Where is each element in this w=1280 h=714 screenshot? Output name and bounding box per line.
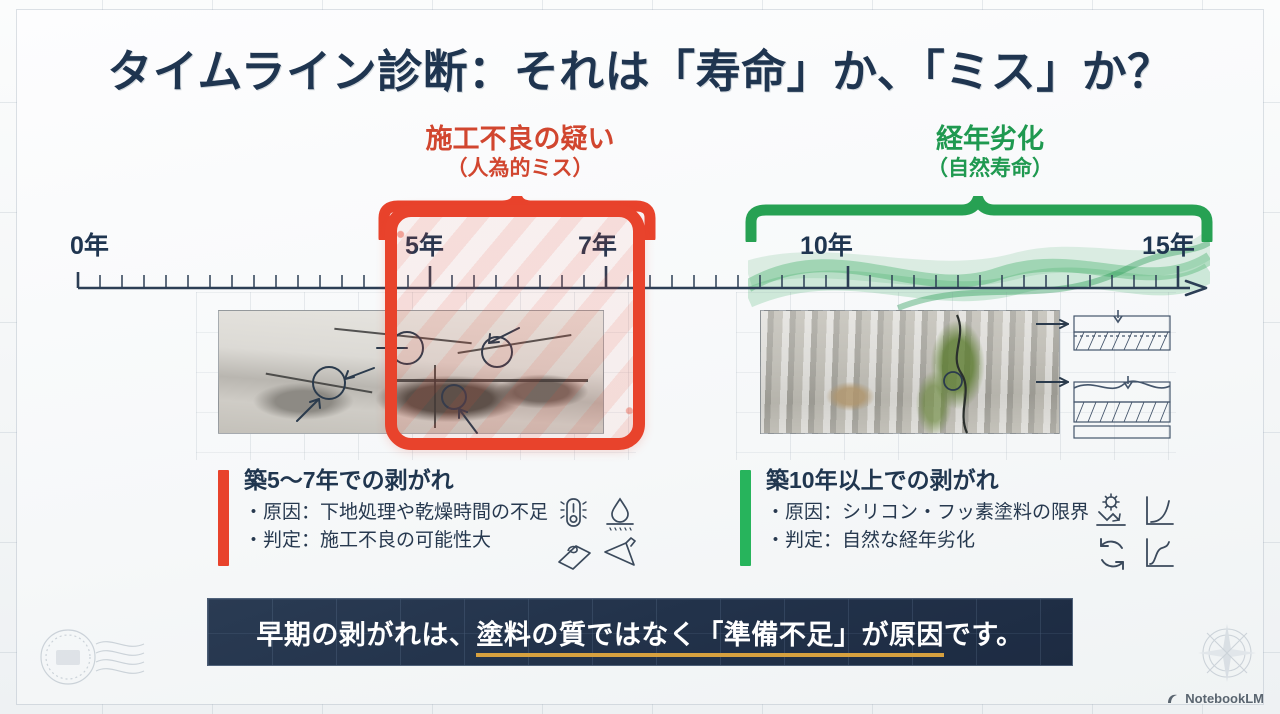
aging-info-block: 築10年以上での剥がれ ・原因：シリコン・フッ素塗料の限界 ・判定：自然な経年劣… — [740, 466, 1190, 576]
notebooklm-logo-icon — [1166, 692, 1180, 706]
rising-curve-chart-icon — [1138, 492, 1178, 532]
defect-icon-group — [554, 492, 644, 574]
postmark-stamp-watermark — [30, 622, 150, 692]
axis-label-0: 0年 — [70, 226, 109, 262]
caption-aging-line2: （自然寿命） — [850, 155, 1130, 182]
banner-suffix: です。 — [944, 620, 1024, 650]
slide-canvas: タイムライン診断：それは「寿命」か、「ミス」か？ 施工不良の疑い （人為的ミス）… — [0, 0, 1280, 714]
weather-cycle-icon — [1092, 534, 1132, 574]
uv-sun-exposure-icon — [1092, 492, 1132, 532]
caption-aging-line1: 経年劣化 — [850, 124, 1130, 155]
aging-callout-arrows — [1036, 316, 1076, 412]
float-trowel-icon — [554, 534, 594, 574]
caption-natural-aging: 経年劣化 （自然寿命） — [850, 124, 1130, 182]
caption-defect-line1: 施工不良の疑い — [380, 124, 660, 155]
compass-rose-watermark — [1196, 622, 1258, 684]
page-title: タイムライン診断：それは「寿命」か、「ミス」か？ — [0, 35, 1280, 100]
banner-text: 早期の剥がれは、塗料の質ではなく「準備不足」が原因です。 — [256, 613, 1023, 652]
axis-label-10: 10年 — [800, 226, 853, 262]
wall-section-diagrams — [1072, 308, 1172, 440]
axis-label-15: 15年 — [1142, 226, 1195, 262]
banner-underlined-phrase: 塗料の質ではなく「準備不足」が原因 — [476, 620, 944, 657]
defect-heading: 築5〜7年での剥がれ — [244, 466, 648, 495]
pointing-trowel-icon — [600, 534, 640, 574]
caption-defect-line2: （人為的ミス） — [380, 155, 660, 182]
caption-construction-defect: 施工不良の疑い （人為的ミス） — [380, 124, 660, 182]
defect-accent-bar — [218, 470, 229, 566]
aging-icon-group — [1092, 492, 1182, 574]
aging-accent-bar — [740, 470, 751, 566]
aging-heading: 築10年以上での剥がれ — [766, 466, 1190, 495]
notebooklm-label: NotebookLM — [1185, 691, 1264, 706]
banner-prefix: 早期の剥がれは、 — [256, 620, 476, 650]
defect-highlight-zone — [385, 205, 645, 450]
notebooklm-footer: NotebookLM — [1166, 691, 1264, 706]
aging-photo-panel — [736, 292, 1176, 460]
conclusion-banner: 早期の剥がれは、塗料の質ではなく「準備不足」が原因です。 — [207, 598, 1073, 666]
aging-annotations — [761, 311, 1061, 435]
defect-info-block: 築5〜7年での剥がれ ・原因：下地処理や乾燥時間の不足 ・判定：施工不良の可能性… — [218, 466, 648, 576]
s-curve-chart-icon — [1138, 534, 1178, 574]
water-drop-on-surface-icon — [600, 492, 640, 532]
moisture-meter-icon — [554, 492, 594, 532]
weathered-wall-photo — [760, 310, 1060, 434]
